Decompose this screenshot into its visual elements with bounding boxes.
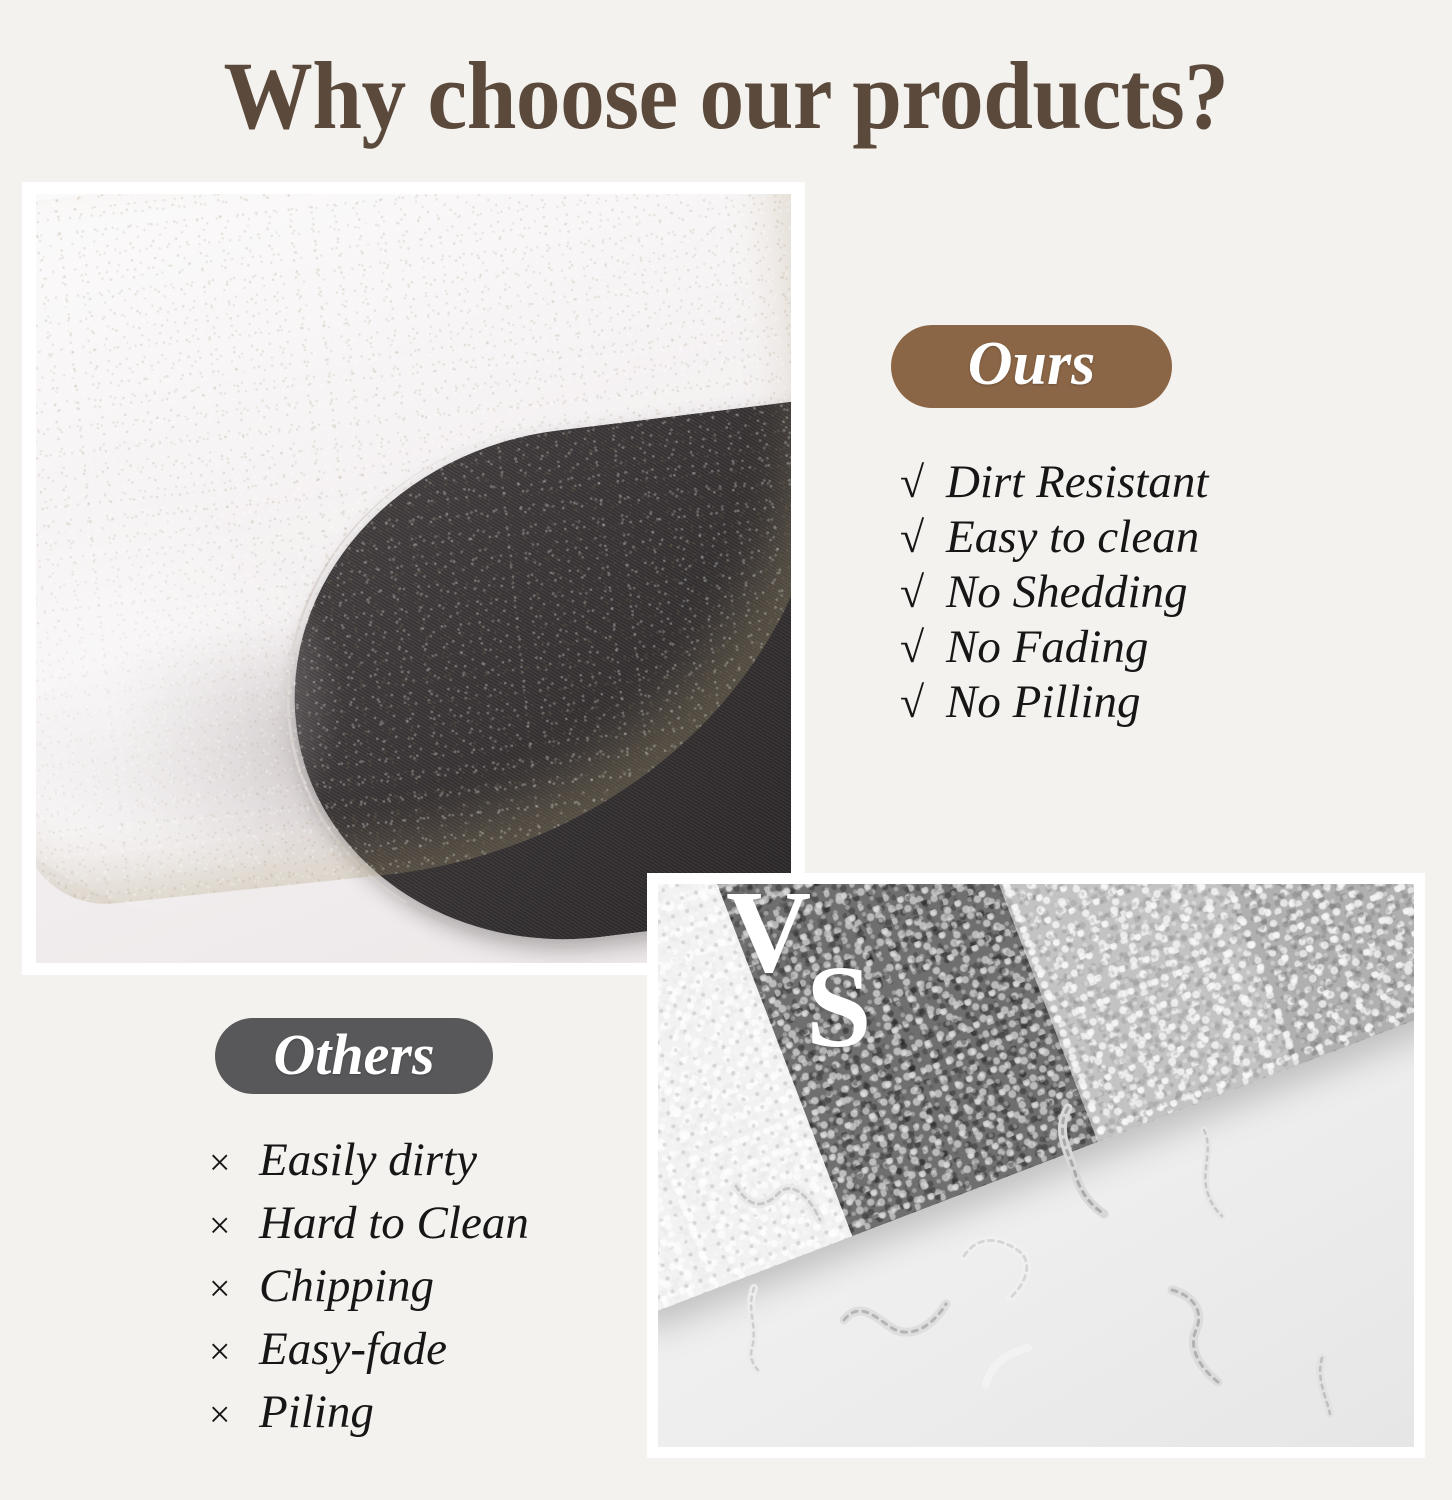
vs-letter-s: S bbox=[806, 948, 872, 1066]
others-feature-item: × Hard to Clean bbox=[209, 1193, 529, 1256]
ours-feature-item: √ No Pilling bbox=[900, 675, 1208, 730]
shed-fiber bbox=[976, 1336, 1046, 1394]
shed-fiber bbox=[1306, 1352, 1356, 1422]
check-icon: √ bbox=[900, 565, 946, 620]
check-icon: √ bbox=[900, 675, 946, 730]
vs-letter-v: V bbox=[726, 873, 811, 991]
others-feature-item: × Piling bbox=[209, 1382, 529, 1445]
others-feature-label: Hard to Clean bbox=[259, 1193, 529, 1253]
ours-feature-item: √ Dirt Resistant bbox=[900, 455, 1208, 510]
cross-icon: × bbox=[209, 1133, 259, 1193]
check-icon: √ bbox=[900, 620, 946, 675]
others-feature-label: Chipping bbox=[259, 1256, 434, 1316]
ours-feature-label: Easy to clean bbox=[946, 510, 1199, 565]
others-badge: Others bbox=[215, 1018, 493, 1094]
shed-fiber bbox=[730, 1176, 840, 1246]
ours-feature-item: √ Easy to clean bbox=[900, 510, 1208, 565]
shed-fiber bbox=[836, 1284, 956, 1364]
ours-feature-label: No Pilling bbox=[946, 675, 1141, 730]
cross-icon: × bbox=[209, 1322, 259, 1382]
others-feature-item: × Easily dirty bbox=[209, 1130, 529, 1193]
others-feature-item: × Chipping bbox=[209, 1256, 529, 1319]
others-feature-label: Easy-fade bbox=[259, 1319, 447, 1379]
ours-product-photo bbox=[22, 182, 805, 975]
check-icon: √ bbox=[900, 455, 946, 510]
ours-feature-label: Dirt Resistant bbox=[946, 455, 1208, 510]
shed-fiber bbox=[736, 1282, 796, 1374]
check-icon: √ bbox=[900, 510, 946, 565]
others-feature-label: Piling bbox=[259, 1382, 374, 1442]
infographic-canvas: Why choose our products? bbox=[0, 0, 1452, 1500]
ours-feature-label: No Shedding bbox=[946, 565, 1188, 620]
shed-fiber bbox=[958, 1228, 1058, 1316]
ours-feature-list: √ Dirt Resistant √ Easy to clean √ No Sh… bbox=[900, 455, 1208, 730]
shed-fiber bbox=[1046, 1102, 1126, 1222]
shed-fiber bbox=[1152, 1282, 1252, 1392]
others-feature-item: × Easy-fade bbox=[209, 1319, 529, 1382]
cross-icon: × bbox=[209, 1385, 259, 1445]
others-feature-label: Easily dirty bbox=[259, 1130, 477, 1190]
ours-badge: Ours bbox=[891, 325, 1172, 408]
others-feature-list: × Easily dirty × Hard to Clean × Chippin… bbox=[209, 1130, 529, 1445]
cross-icon: × bbox=[209, 1196, 259, 1256]
ours-photo-image bbox=[36, 194, 791, 963]
page-title: Why choose our products? bbox=[51, 46, 1401, 147]
cross-icon: × bbox=[209, 1259, 259, 1319]
ours-feature-item: √ No Shedding bbox=[900, 565, 1208, 620]
ours-feature-item: √ No Fading bbox=[900, 620, 1208, 675]
shed-fiber bbox=[1188, 1124, 1238, 1220]
ours-feature-label: No Fading bbox=[946, 620, 1148, 675]
